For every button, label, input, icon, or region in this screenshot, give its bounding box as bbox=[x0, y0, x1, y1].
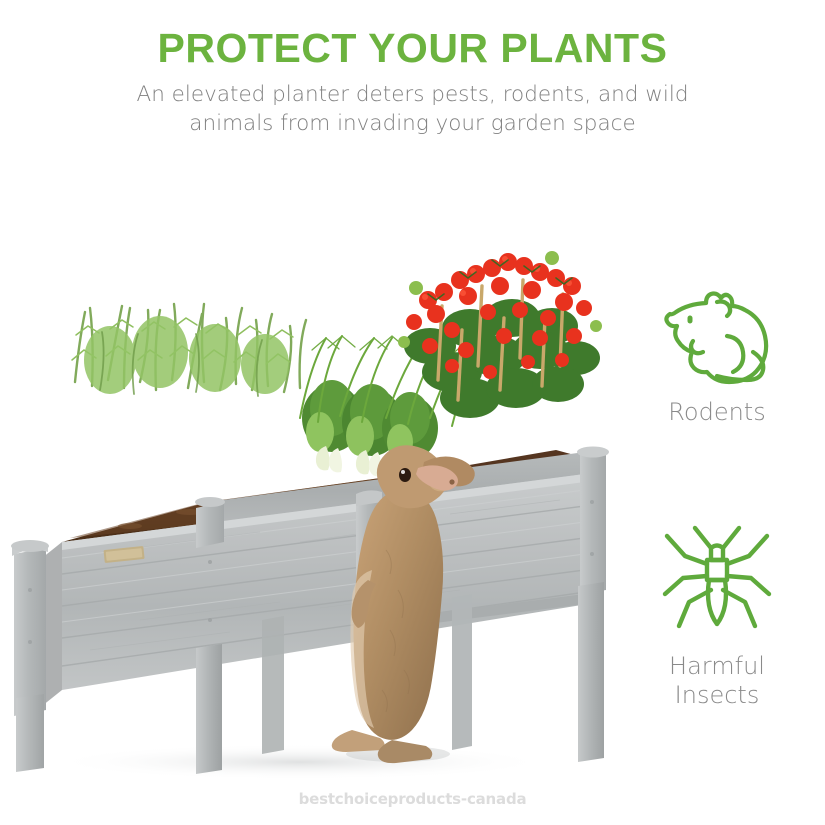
leg-mid-left bbox=[196, 644, 222, 774]
plant-rosemary bbox=[72, 304, 306, 396]
insect-icon bbox=[657, 522, 777, 642]
plant-group bbox=[72, 251, 602, 478]
feature-label-rodents: Rodents bbox=[622, 398, 812, 427]
page-title: PROTECT YOUR PLANTS bbox=[0, 27, 825, 70]
product-feature-graphic: PROTECT YOUR PLANTS An elevated planter … bbox=[0, 0, 825, 825]
leg-front-right bbox=[578, 582, 604, 762]
feature-label-insects: Harmful Insects bbox=[622, 652, 812, 711]
rabbit-eye bbox=[399, 468, 411, 482]
rodent-icon bbox=[657, 278, 777, 388]
rabbit-hind-foot-right bbox=[378, 740, 432, 763]
feature-insects: Harmful Insects bbox=[622, 522, 812, 711]
subtitle-line-1: An elevated planter deters pests, rodent… bbox=[92, 80, 733, 109]
insects-label-line-2: Insects bbox=[622, 681, 812, 710]
corner-post-front-left bbox=[14, 548, 46, 716]
rodents-label-line-1: Rodents bbox=[622, 398, 812, 427]
ground-shadow bbox=[50, 744, 550, 780]
feature-rodents: Rodents bbox=[622, 278, 812, 427]
leg-right-back bbox=[452, 594, 472, 750]
leg-mid-back bbox=[262, 616, 284, 754]
rabbit-nose bbox=[449, 479, 454, 484]
product-image bbox=[0, 150, 660, 790]
corner-post-right bbox=[580, 450, 606, 594]
insects-label-line-1: Harmful bbox=[622, 652, 812, 681]
planter-box bbox=[11, 447, 609, 775]
page-subtitle: An elevated planter deters pests, rodent… bbox=[92, 80, 733, 138]
subtitle-line-2: animals from invading your garden space bbox=[92, 109, 733, 138]
corner-post-left-back bbox=[196, 502, 224, 548]
watermark: bestchoiceproducts-canada bbox=[0, 790, 825, 808]
